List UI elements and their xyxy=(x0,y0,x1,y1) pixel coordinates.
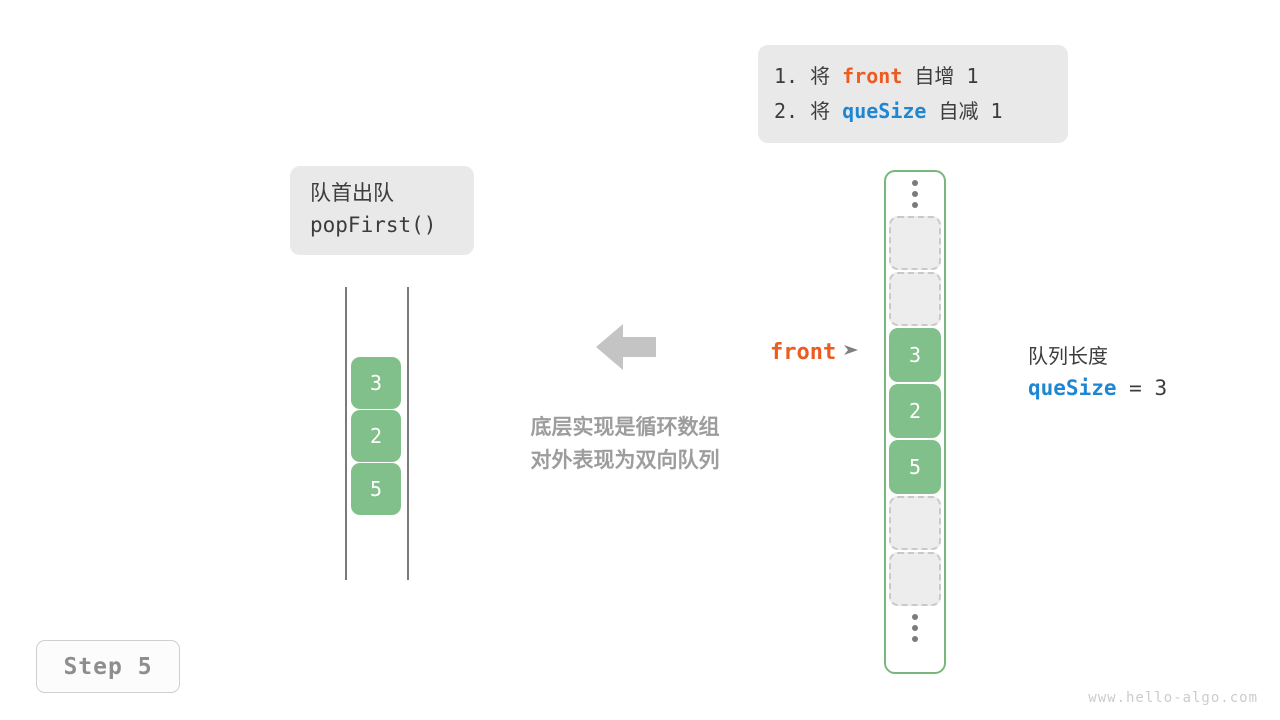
deque-cell-list: 3 2 5 xyxy=(351,357,401,516)
array-slot xyxy=(889,496,941,550)
vertical-dots-icon xyxy=(886,172,944,216)
array-slot xyxy=(889,272,941,326)
queue-size-value: 3 xyxy=(1154,376,1167,400)
operation-label-box: 队首出队 popFirst() xyxy=(290,166,474,255)
front-pointer-label: front xyxy=(770,340,836,365)
queue-size-equals: = xyxy=(1117,376,1155,400)
watermark: www.hello-algo.com xyxy=(1088,690,1258,706)
deque-cell: 2 xyxy=(351,410,401,462)
operation-title: 队首出队 xyxy=(290,178,474,210)
array-slot: 5 xyxy=(889,440,941,494)
queue-size-var: queSize xyxy=(1028,376,1117,400)
center-caption: 底层实现是循环数组 对外表现为双向队列 xyxy=(500,412,750,477)
queue-size-label: 队列长度 queSize = 3 xyxy=(1028,342,1167,406)
array-slot: 3 xyxy=(889,328,941,382)
deque-cell: 3 xyxy=(351,357,401,409)
array-slot-list: 3 2 5 xyxy=(886,216,944,606)
callout-step-2-code: queSize xyxy=(842,99,926,123)
caption-line-1: 底层实现是循环数组 xyxy=(500,412,750,445)
channel-right-rail xyxy=(407,287,409,580)
front-pointer: front xyxy=(770,340,860,365)
arrow-left-icon xyxy=(596,322,656,372)
callout-step-1-suffix: 自增 1 xyxy=(902,64,978,88)
array-slot: 2 xyxy=(889,384,941,438)
deque-cell: 5 xyxy=(351,463,401,515)
step-badge: Step 5 xyxy=(36,640,180,693)
step-badge-text: Step 5 xyxy=(63,654,152,680)
arrow-right-small-icon xyxy=(844,343,860,362)
channel-left-rail xyxy=(345,287,347,580)
callout-step-2-prefix: 2. 将 xyxy=(774,99,842,123)
callout-step-1-code: front xyxy=(842,64,902,88)
caption-line-2: 对外表现为双向队列 xyxy=(500,445,750,478)
callout-step-2-suffix: 自减 1 xyxy=(926,99,1002,123)
vertical-dots-icon xyxy=(886,606,944,650)
callout-step-1: 1. 将 front 自增 1 xyxy=(758,59,1068,94)
circular-array: 3 2 5 xyxy=(884,170,946,674)
deque-channel: 3 2 5 xyxy=(345,287,409,580)
operation-method: popFirst() xyxy=(290,210,474,242)
queue-size-title: 队列长度 xyxy=(1028,342,1167,372)
callout-step-1-prefix: 1. 将 xyxy=(774,64,842,88)
queue-size-expression: queSize = 3 xyxy=(1028,372,1167,406)
callout-step-2: 2. 将 queSize 自减 1 xyxy=(758,94,1068,129)
operation-steps-callout: 1. 将 front 自增 1 2. 将 queSize 自减 1 xyxy=(758,45,1068,143)
array-slot xyxy=(889,216,941,270)
array-slot xyxy=(889,552,941,606)
